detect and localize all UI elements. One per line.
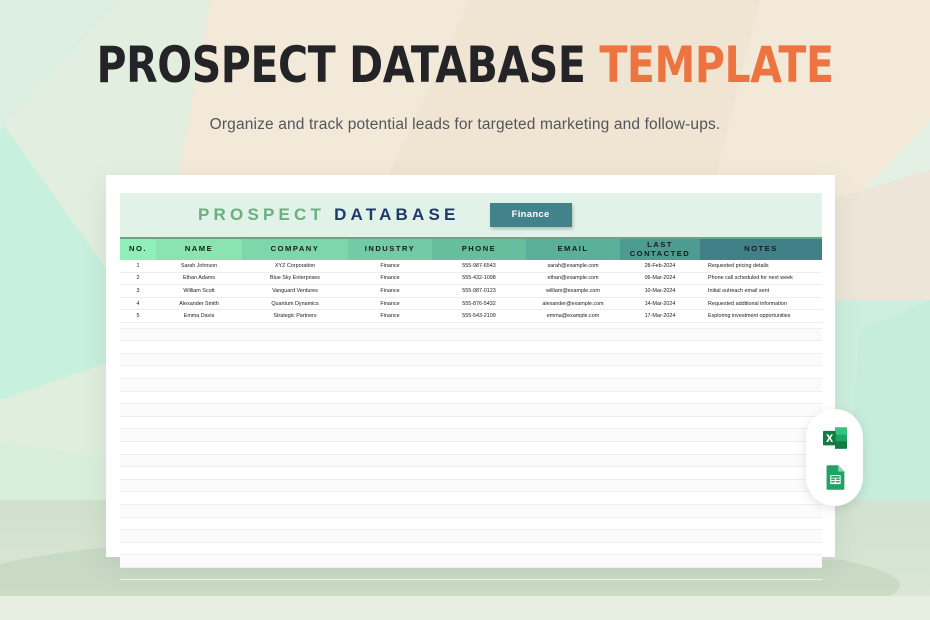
cell-last[interactable]: 06-Mar-2024 [620,272,700,285]
cell-company[interactable]: XYZ Corporation [242,260,348,272]
page-header: PROSPECT DATABASE TEMPLATE Organize and … [0,0,930,175]
empty-row[interactable] [120,492,822,505]
sheet-title-bar: PROSPECT DATABASE Finance [120,193,822,237]
cell-email[interactable]: william@example.com [526,285,620,298]
cell-name[interactable]: Ethan Adams [156,272,242,285]
cell-phone[interactable]: 555-987-6543 [432,260,526,272]
cell-no[interactable]: 2 [120,272,156,285]
empty-row[interactable] [120,518,822,531]
table-row[interactable]: 2Ethan AdamsBlue Sky EnterprisesFinance5… [120,272,822,285]
file-format-icons [806,409,863,506]
cell-notes[interactable]: Phone call scheduled for next week [700,272,822,285]
empty-row[interactable] [120,568,822,581]
column-header-name[interactable]: NAME [156,238,242,260]
cell-no[interactable]: 3 [120,285,156,298]
prospect-table: NO. NAME COMPANY INDUSTRY PHONE EMAIL LA… [120,237,822,323]
cell-last[interactable]: 10-Mar-2024 [620,285,700,298]
cell-company[interactable]: Vanguard Ventures [242,285,348,298]
page-title-accent: TEMPLATE [599,36,833,94]
spreadsheet-content: PROSPECT DATABASE Finance NO. NAME COMPA… [120,193,822,323]
cell-no[interactable]: 5 [120,310,156,323]
cell-industry[interactable]: Finance [348,297,432,310]
table-row[interactable]: 1Sarah JohnsonXYZ CorporationFinance555-… [120,260,822,272]
cell-notes[interactable]: Initial outreach email sent [700,285,822,298]
sheet-title-word-prospect: PROSPECT [198,205,325,224]
spreadsheet-card: PROSPECT DATABASE Finance NO. NAME COMPA… [106,175,835,557]
cell-company[interactable]: Blue Sky Enterprises [242,272,348,285]
cell-industry[interactable]: Finance [348,310,432,323]
cell-company[interactable]: Strategic Partners [242,310,348,323]
cell-last[interactable]: 14-Mar-2024 [620,297,700,310]
cell-email[interactable]: ethan@example.com [526,272,620,285]
empty-row[interactable] [120,417,822,430]
cell-name[interactable]: Emma Davis [156,310,242,323]
cell-email[interactable]: sarah@example.com [526,260,620,272]
cell-notes[interactable]: Requested pricing details [700,260,822,272]
sheet-title-word-database: DATABASE [334,205,460,224]
cell-name[interactable]: William Scott [156,285,242,298]
column-header-last-contacted[interactable]: LAST CONTACTED [620,238,700,260]
empty-row[interactable] [120,354,822,367]
industry-filter-badge[interactable]: Finance [490,203,572,227]
column-header-company[interactable]: COMPANY [242,238,348,260]
cell-email[interactable]: alexander@example.com [526,297,620,310]
cell-email[interactable]: emma@example.com [526,310,620,323]
cell-name[interactable]: Alexander Smith [156,297,242,310]
empty-row[interactable] [120,480,822,493]
google-sheets-icon[interactable] [820,462,850,492]
cell-no[interactable]: 4 [120,297,156,310]
cell-last[interactable]: 17-Mar-2024 [620,310,700,323]
cell-notes[interactable]: Requested additional information [700,297,822,310]
cell-industry[interactable]: Finance [348,272,432,285]
empty-row[interactable] [120,530,822,543]
empty-row[interactable] [120,505,822,518]
empty-row[interactable] [120,555,822,568]
cell-last[interactable]: 28-Feb-2024 [620,260,700,272]
cell-phone[interactable]: 555-876-5432 [432,297,526,310]
cell-no[interactable]: 1 [120,260,156,272]
cell-phone[interactable]: 555-432-1098 [432,272,526,285]
column-header-no[interactable]: NO. [120,238,156,260]
column-header-phone[interactable]: PHONE [432,238,526,260]
page-subtitle: Organize and track potential leads for t… [0,92,930,134]
empty-rows-container [120,316,822,580]
cell-notes[interactable]: Exploring investment opportunities [700,310,822,323]
empty-row[interactable] [120,404,822,417]
empty-row[interactable] [120,429,822,442]
table-row[interactable]: 3William ScottVanguard VenturesFinance55… [120,285,822,298]
empty-row[interactable] [120,392,822,405]
page-title-primary: PROSPECT DATABASE [96,36,599,94]
table-body: 1Sarah JohnsonXYZ CorporationFinance555-… [120,260,822,322]
cell-industry[interactable]: Finance [348,260,432,272]
empty-row[interactable] [120,341,822,354]
empty-row[interactable] [120,379,822,392]
table-row[interactable]: 4Alexander SmithQuantum DynamicsFinance5… [120,297,822,310]
table-row[interactable]: 5Emma DavisStrategic PartnersFinance555-… [120,310,822,323]
cell-company[interactable]: Quantum Dynamics [242,297,348,310]
cell-phone[interactable]: 555-987-0123 [432,285,526,298]
empty-row[interactable] [120,543,822,556]
column-header-notes[interactable]: NOTES [700,238,822,260]
empty-row[interactable] [120,442,822,455]
empty-row[interactable] [120,467,822,480]
cell-industry[interactable]: Finance [348,285,432,298]
cell-name[interactable]: Sarah Johnson [156,260,242,272]
column-header-email[interactable]: EMAIL [526,238,620,260]
excel-icon[interactable] [820,423,850,453]
sheet-title: PROSPECT DATABASE [198,205,460,225]
table-header-row: NO. NAME COMPANY INDUSTRY PHONE EMAIL LA… [120,238,822,260]
page-title: PROSPECT DATABASE TEMPLATE [84,0,847,92]
empty-row[interactable] [120,366,822,379]
empty-row[interactable] [120,455,822,468]
empty-row[interactable] [120,329,822,342]
cell-phone[interactable]: 555-543-2109 [432,310,526,323]
column-header-industry[interactable]: INDUSTRY [348,238,432,260]
